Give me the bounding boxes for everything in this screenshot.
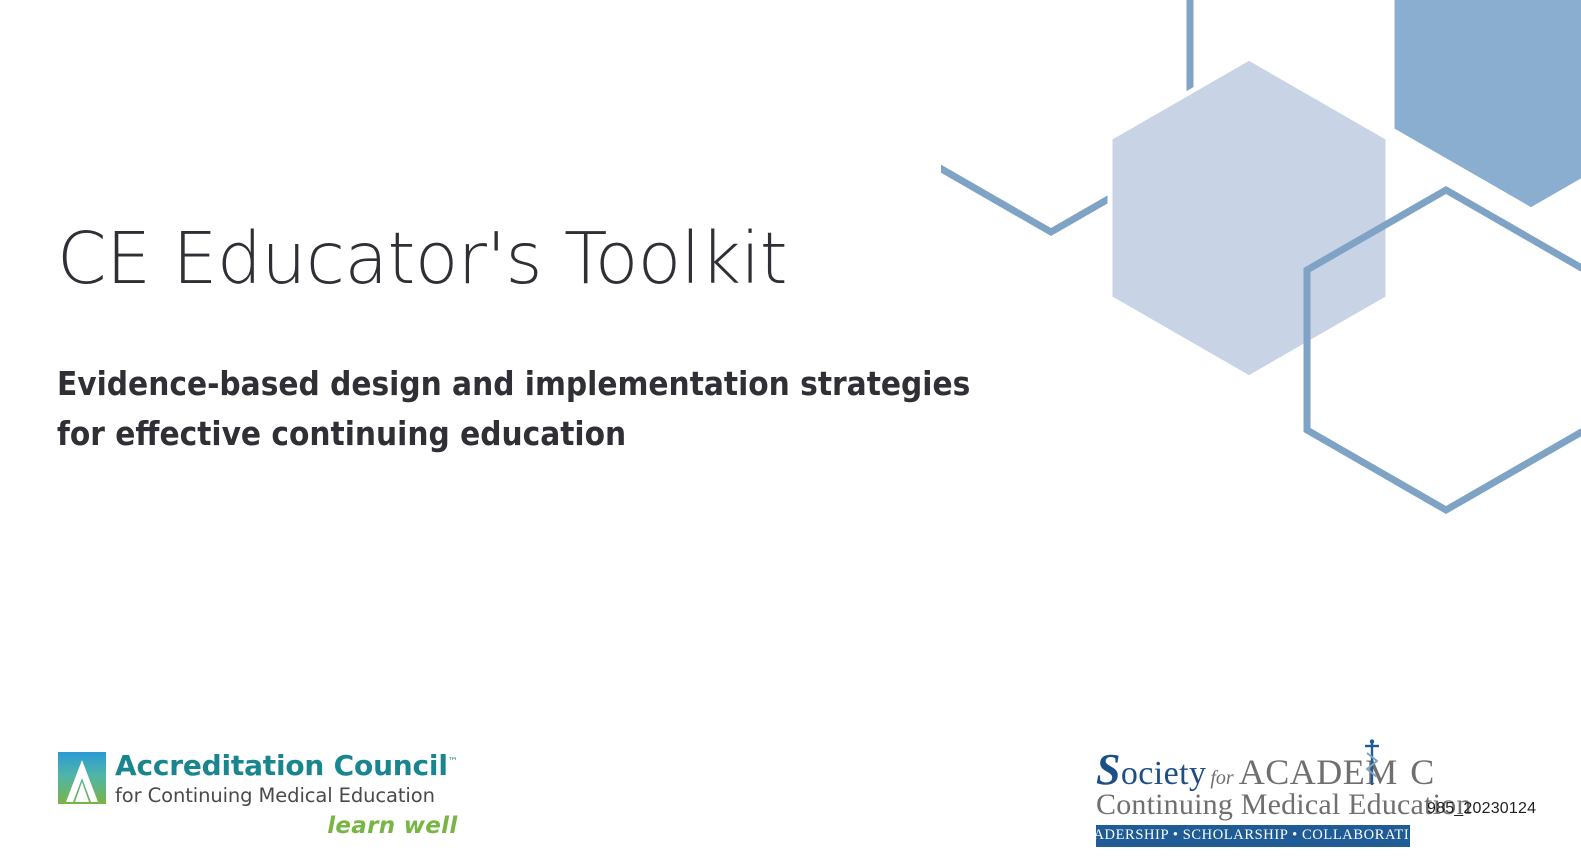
sacme-big-s: S <box>1096 745 1121 794</box>
hexagon-bottom-right-outline <box>1307 190 1581 510</box>
accme-wordmark: Accreditation Council™ for Continuing Me… <box>115 752 458 838</box>
subtitle-line-1: Evidence-based design and implementation… <box>57 359 997 409</box>
sacme-society-word: Society <box>1096 748 1206 792</box>
hexagon-top-left-outline <box>941 0 1190 232</box>
title-block: CE Educator's Toolkit Evidence-based des… <box>57 222 1017 459</box>
accme-logo: Accreditation Council™ for Continuing Me… <box>58 752 458 838</box>
accme-subtitle-line: for Continuing Medical Education <box>115 786 458 806</box>
hexagon-right-filled-dark <box>1392 0 1581 210</box>
page-title: CE Educator's Toolkit <box>57 222 1017 297</box>
document-code: 985_20230124 <box>1427 800 1536 818</box>
sacme-for-word: for <box>1210 768 1233 788</box>
accme-title-text: Accreditation Council <box>115 749 448 782</box>
sacme-values-text: LEADERSHIP • SCHOLARSHIP • COLLABORATION <box>1075 827 1432 844</box>
hexagon-cluster-decoration <box>941 0 1581 570</box>
page-subtitle: Evidence-based design and implementation… <box>57 359 997 459</box>
sacme-academic-word: ACADEMIC <box>1239 754 1435 790</box>
subtitle-line-2: for effective continuing education <box>57 409 997 459</box>
sacme-subtitle-line: Continuing Medical Education <box>1096 789 1410 821</box>
sacme-academic-tail: C <box>1410 752 1435 792</box>
sacme-logo: Society for ACADEMIC Continuing Medical … <box>1096 748 1410 847</box>
sacme-title-line: Society for ACADEMIC <box>1096 748 1410 788</box>
title-slide: CE Educator's Toolkit Evidence-based des… <box>0 0 1581 861</box>
caduceus-icon <box>1364 739 1380 787</box>
sacme-values-bar: LEADERSHIP • SCHOLARSHIP • COLLABORATION <box>1096 825 1410 847</box>
trademark-symbol: ™ <box>448 757 458 768</box>
hexagon-center-filled-light <box>1110 58 1388 378</box>
accme-gradient-peak-mark <box>58 752 106 804</box>
sacme-society-rest: ociety <box>1121 755 1206 792</box>
accme-title-line: Accreditation Council™ <box>115 752 458 780</box>
accme-tagline: learn well <box>115 815 458 838</box>
